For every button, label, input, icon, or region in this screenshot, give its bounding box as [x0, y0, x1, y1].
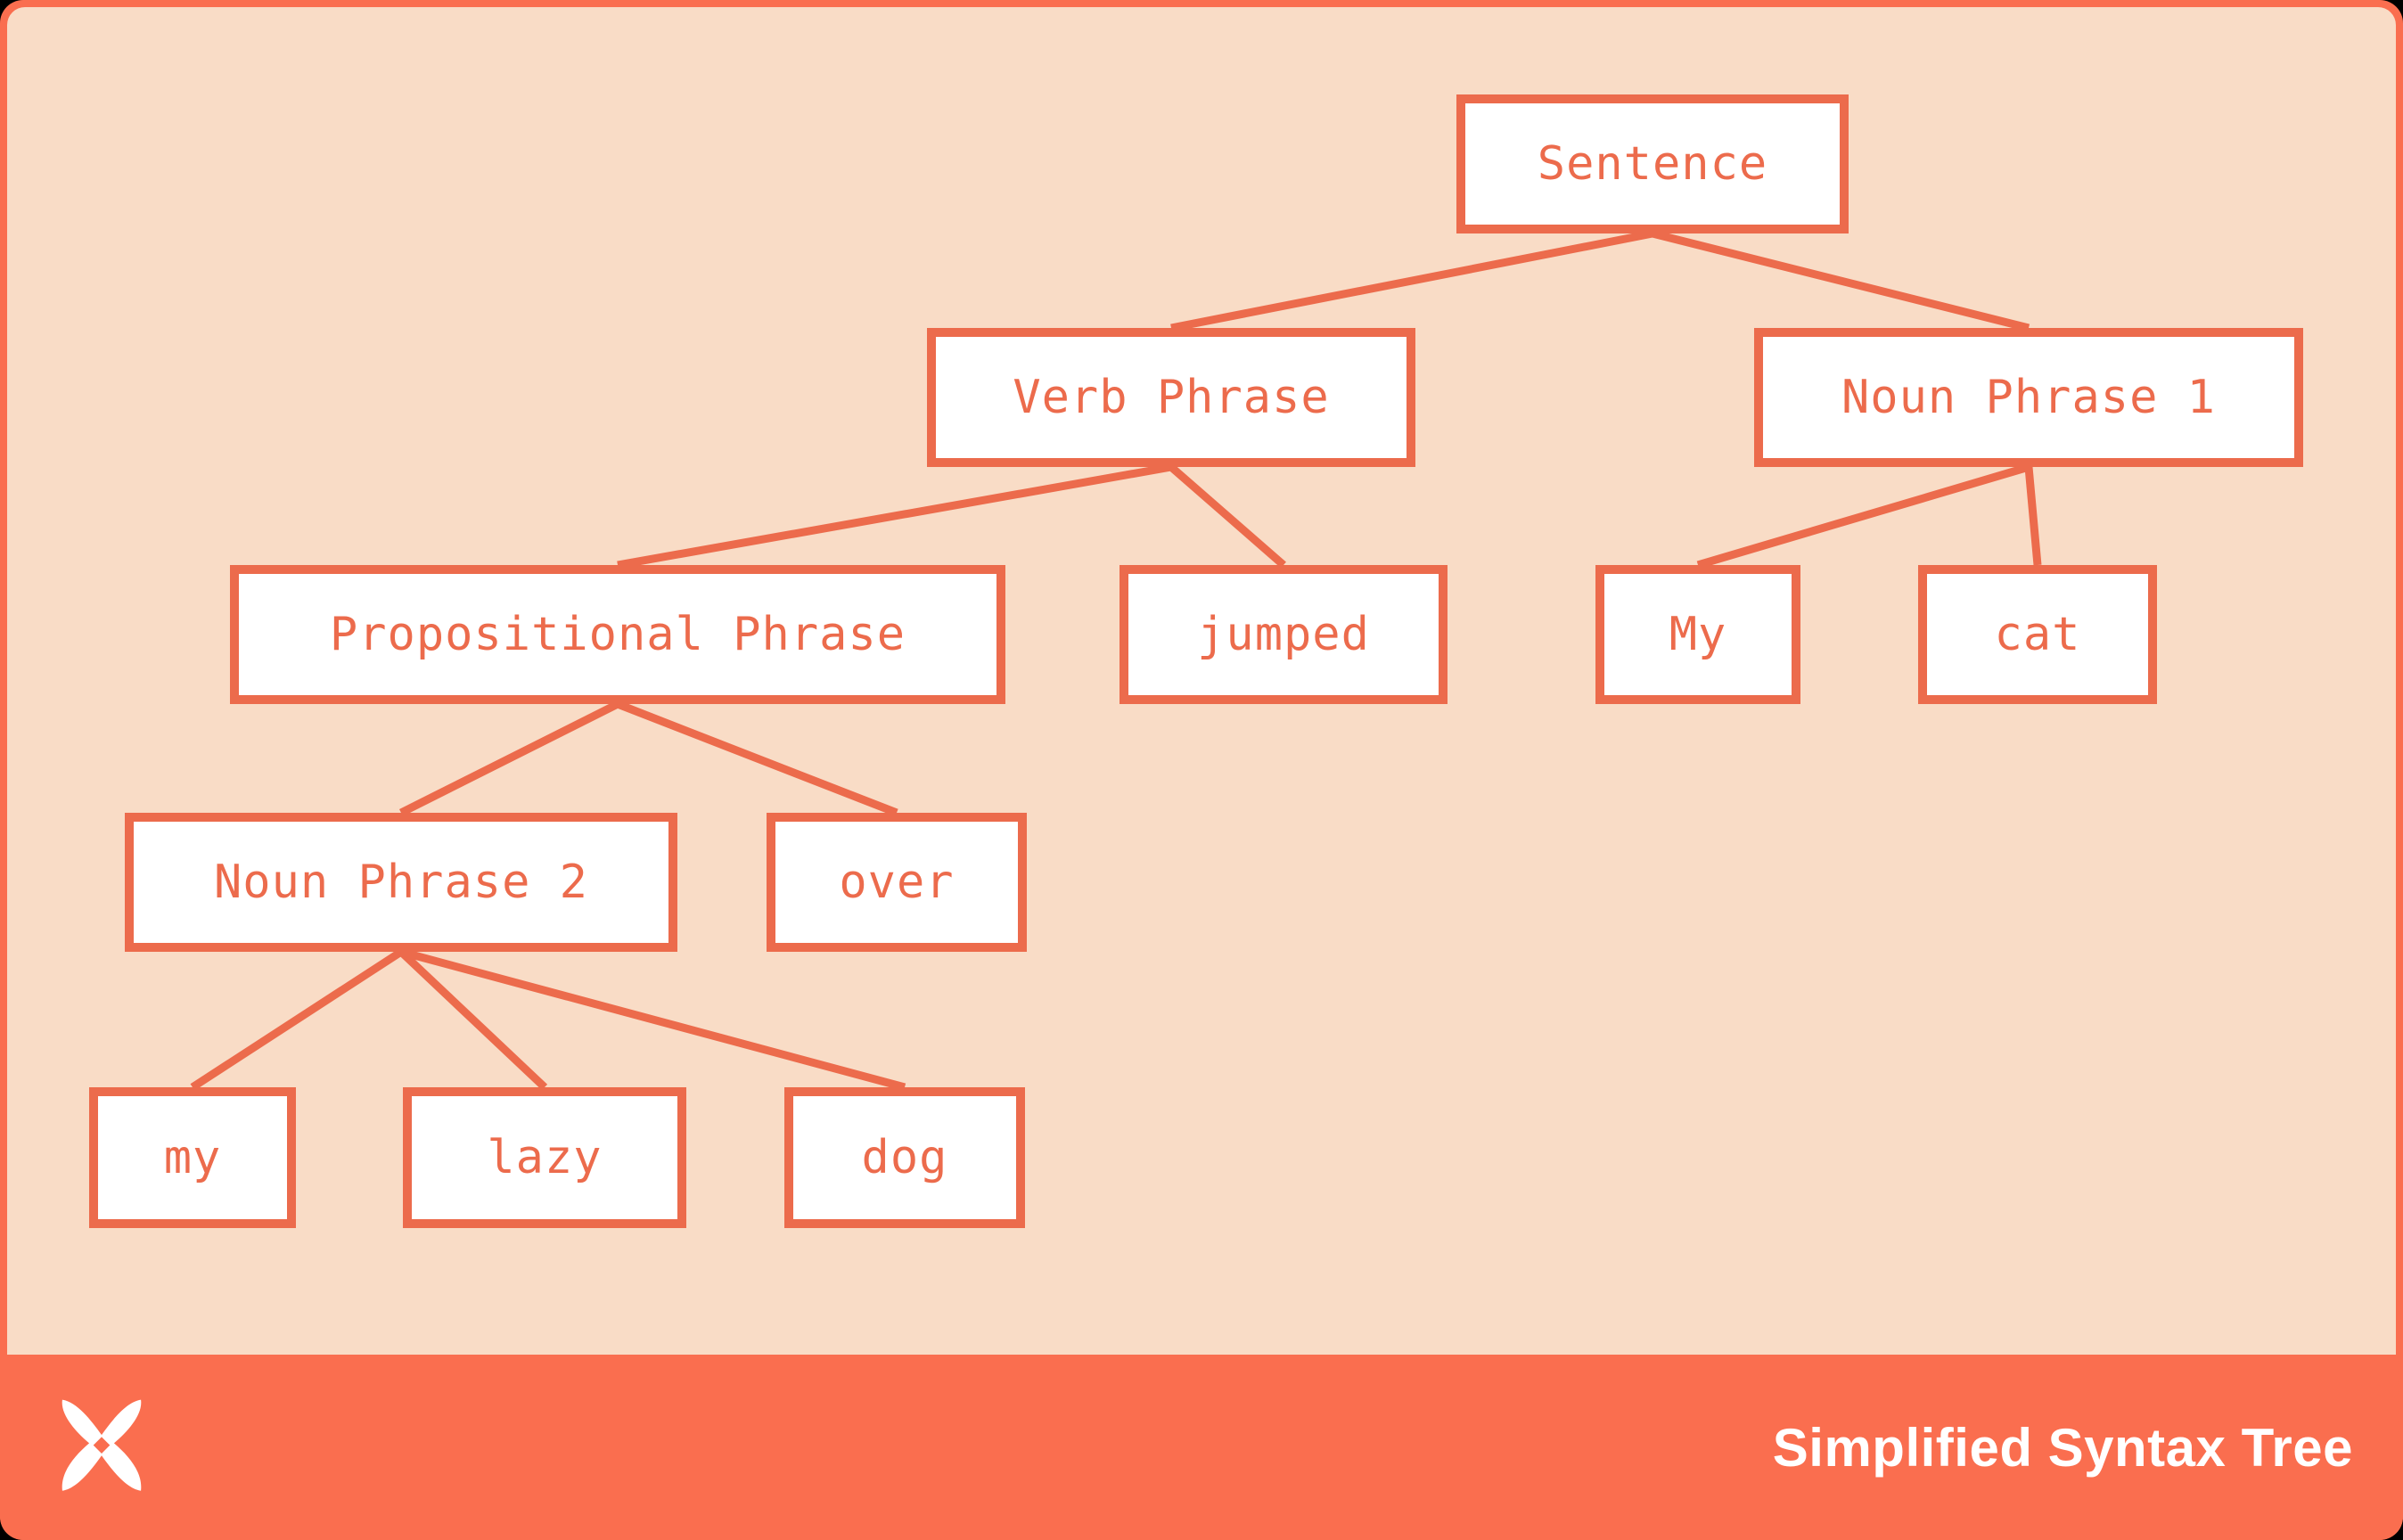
tree-nodes-layer: SentenceVerb PhraseNoun Phrase 1Proposit… — [94, 99, 2299, 1224]
tree-node-pp[interactable]: Propositional Phrase — [234, 569, 1001, 700]
tree-edge — [193, 952, 401, 1087]
tree-node-np1[interactable]: Noun Phrase 1 — [1759, 332, 2299, 463]
diagram-card: SentenceVerb PhraseNoun Phrase 1Proposit… — [0, 0, 2403, 1540]
tree-node-cat[interactable]: cat — [1923, 569, 2153, 700]
tree-edge — [401, 704, 618, 813]
node-label: jumped — [1197, 608, 1370, 661]
tree-edge — [618, 704, 897, 813]
tree-edge — [1653, 233, 2029, 328]
tree-node-my_poss[interactable]: my — [94, 1092, 291, 1224]
node-label: Noun Phrase 1 — [1841, 371, 2216, 424]
tree-node-my_det[interactable]: My — [1600, 569, 1796, 700]
node-label: My — [1669, 608, 1727, 661]
footer-title: Simplified Syntax Tree — [1773, 1417, 2353, 1479]
tree-node-sentence[interactable]: Sentence — [1461, 99, 1844, 229]
tree-node-np2[interactable]: Noun Phrase 2 — [129, 817, 673, 947]
tree-node-lazy[interactable]: lazy — [407, 1092, 682, 1224]
tree-edge — [1698, 467, 2029, 565]
butterfly-x-logo-icon — [50, 1396, 153, 1499]
node-label: Propositional Phrase — [330, 608, 906, 661]
syntax-tree-svg: SentenceVerb PhraseNoun Phrase 1Proposit… — [7, 7, 2396, 1355]
tree-node-over[interactable]: over — [771, 817, 1022, 947]
diagram-canvas: SentenceVerb PhraseNoun Phrase 1Proposit… — [7, 7, 2396, 1355]
node-label: over — [839, 856, 954, 909]
node-label: Verb Phrase — [1013, 371, 1329, 424]
tree-node-jumped[interactable]: jumped — [1124, 569, 1443, 700]
node-label: my — [164, 1131, 222, 1184]
node-label: dog — [862, 1131, 948, 1184]
tree-edge — [618, 467, 1171, 565]
footer-bar: Simplified Syntax Tree — [0, 1355, 2403, 1540]
tree-node-vp[interactable]: Verb Phrase — [931, 332, 1411, 463]
tree-edge — [1171, 233, 1653, 328]
node-label: cat — [1995, 608, 2081, 661]
node-label: Noun Phrase 2 — [214, 856, 588, 909]
screenshot-root: SentenceVerb PhraseNoun Phrase 1Proposit… — [0, 0, 2403, 1540]
node-label: lazy — [487, 1131, 602, 1184]
tree-edge — [2029, 467, 2038, 565]
tree-node-dog[interactable]: dog — [789, 1092, 1021, 1224]
tree-edge — [1171, 467, 1284, 565]
node-label: Sentence — [1538, 137, 1767, 191]
